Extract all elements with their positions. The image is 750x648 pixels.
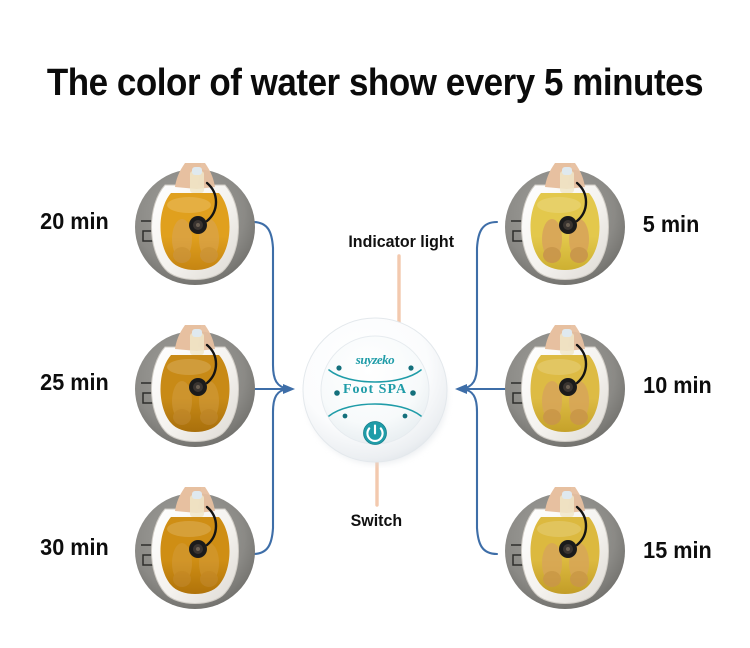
foot-spa-controller[interactable]: suyzeko Foot SPA xyxy=(297,312,453,468)
time-label-5-min: 5 min xyxy=(643,211,699,238)
page-title: The color of water show every 5 minutes xyxy=(30,62,720,105)
left-arrowhead xyxy=(283,384,295,394)
device-brand-label: Foot SPA xyxy=(297,382,453,398)
infographic-page: The color of water show every 5 minutes xyxy=(0,0,750,648)
time-label-20-min: 20 min xyxy=(40,208,109,235)
foot-bath-photo-20-min xyxy=(127,163,263,291)
foot-bath-photo-5-min xyxy=(497,163,633,291)
device-logo: suyzeko xyxy=(297,352,453,368)
indicator-dot xyxy=(343,414,348,419)
foot-bath-photo-30-min xyxy=(127,487,263,615)
foot-bath-photo-10-min xyxy=(497,325,633,453)
right-arrowhead xyxy=(455,384,467,394)
callout-label-switch: Switch xyxy=(351,511,403,531)
callout-label-indicator-light: Indicator light xyxy=(348,232,454,252)
time-label-25-min: 25 min xyxy=(40,369,109,396)
foot-bath-photo-25-min xyxy=(127,325,263,453)
time-label-15-min: 15 min xyxy=(643,537,712,564)
foot-bath-photo-15-min xyxy=(497,487,633,615)
indicator-dot xyxy=(403,414,408,419)
time-label-30-min: 30 min xyxy=(40,534,109,561)
time-label-10-min: 10 min xyxy=(643,372,712,399)
